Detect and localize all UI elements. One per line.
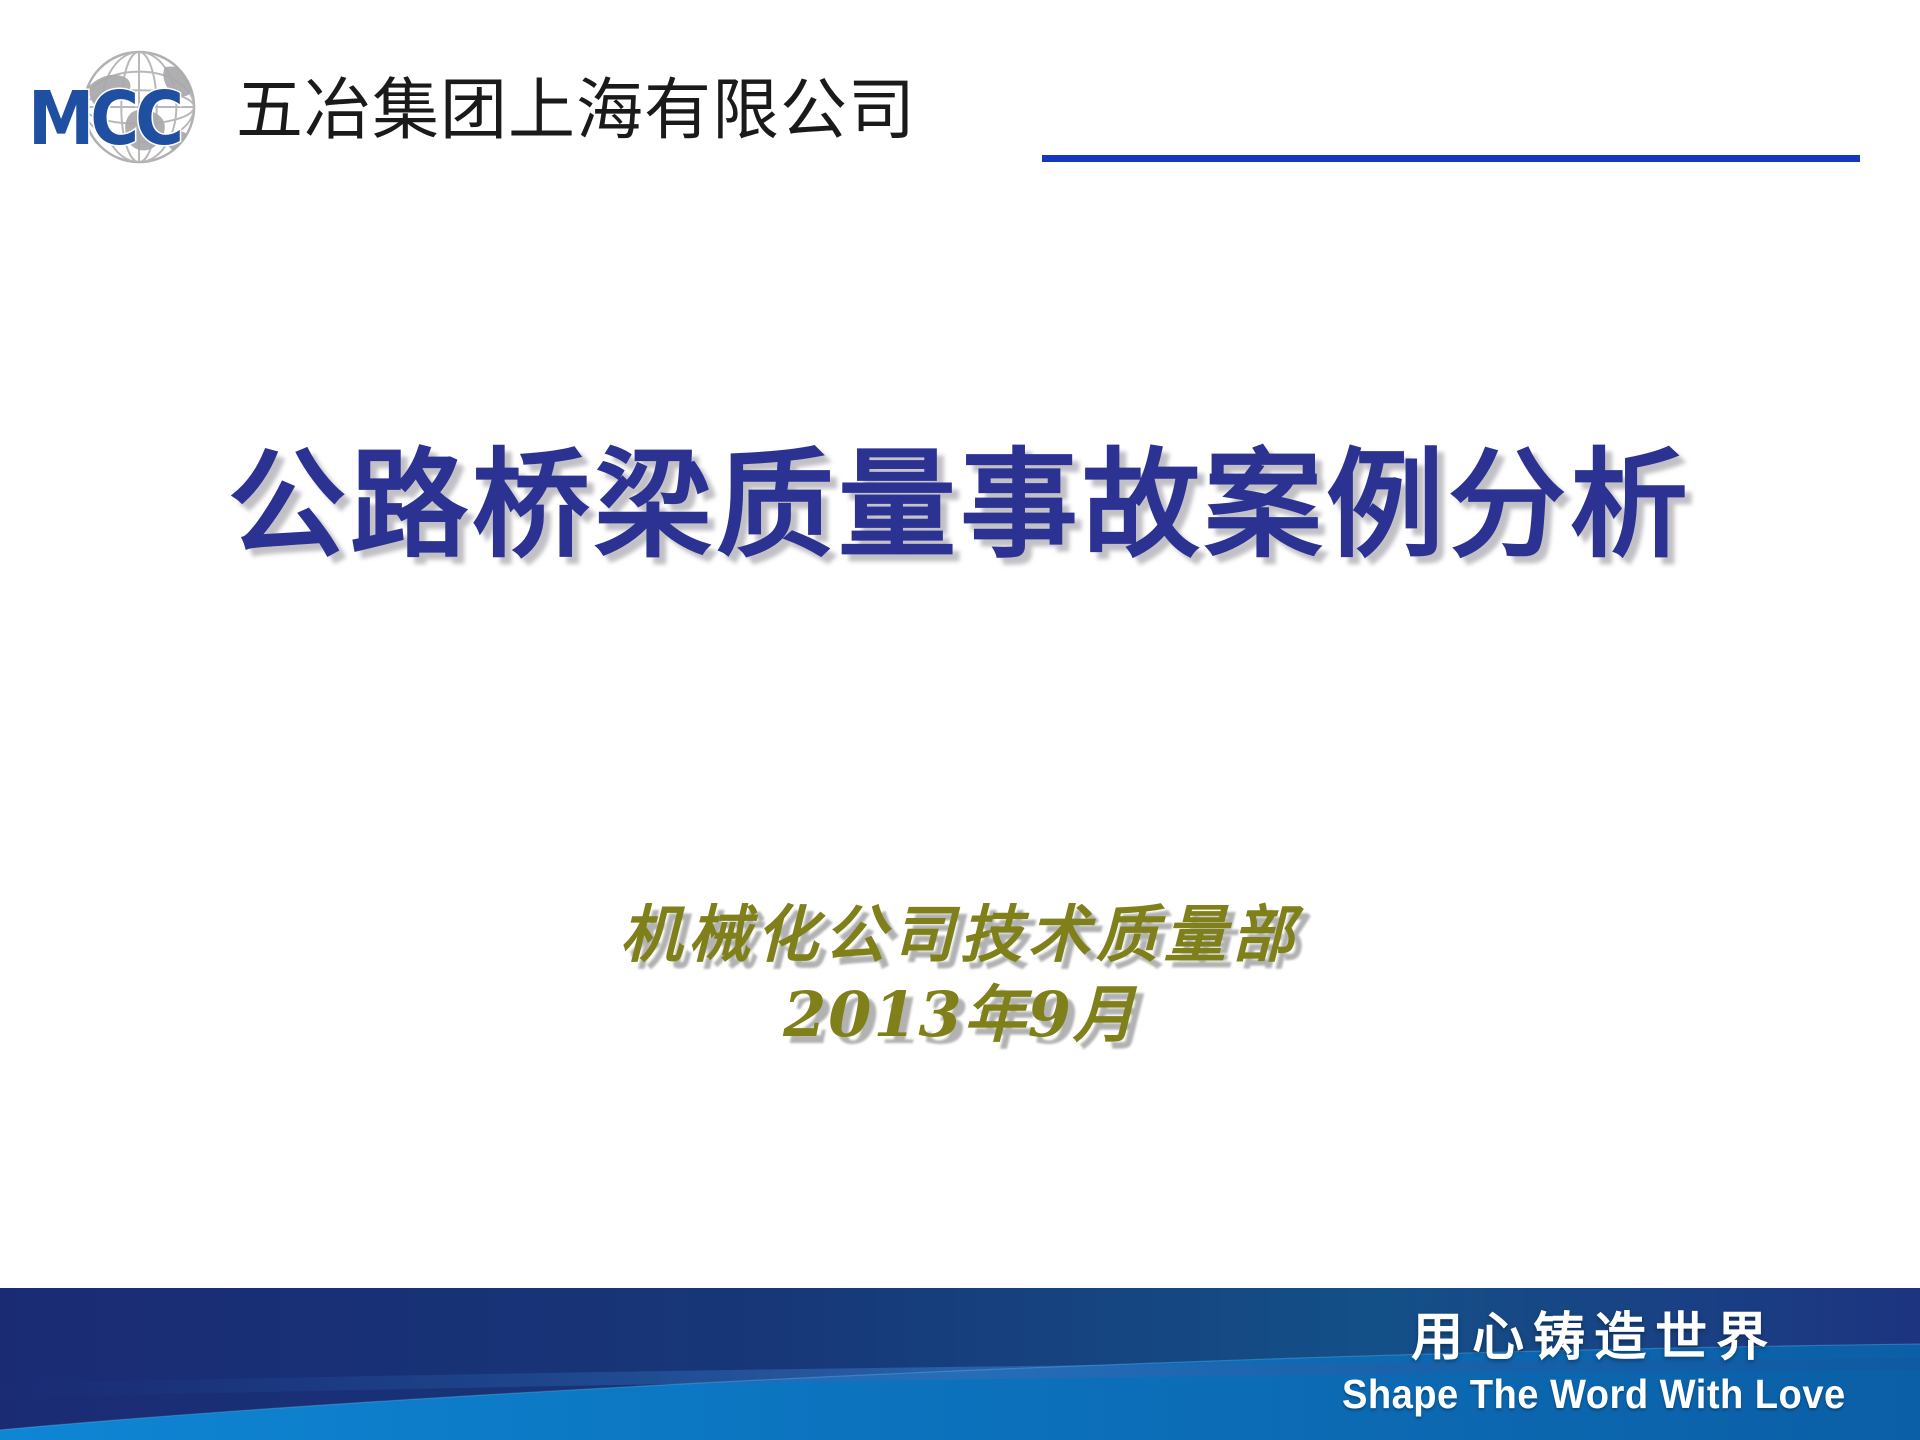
department-name: 机械化公司技术质量部 — [0, 895, 1920, 975]
company-name: 五冶集团上海有限公司 — [236, 70, 916, 150]
slogan-english: Shape The Word With Love — [1342, 1370, 1846, 1418]
mcc-wordmark-text: MCC — [28, 86, 228, 152]
mcc-logo: MCC — [28, 48, 228, 166]
slogan-block: 用心铸造世界 Shape The Word With Love — [1323, 1306, 1865, 1418]
header-divider-rule — [1042, 155, 1860, 162]
subtitle-block: 机械化公司技术质量部 2013年9月 — [0, 895, 1920, 1055]
presentation-date: 2013年9月 — [0, 975, 1920, 1055]
page-title: 公路桥梁质量事故案例分析 — [0, 430, 1920, 580]
slide-header: MCC 五冶集团上海有限公司 — [0, 0, 1920, 190]
footer-banner: 用心铸造世界 Shape The Word With Love — [0, 1288, 1920, 1440]
title-block: 公路桥梁质量事故案例分析 — [0, 430, 1920, 580]
slogan-chinese: 用心铸造世界 — [1323, 1306, 1865, 1370]
presentation-slide: MCC 五冶集团上海有限公司 公路桥梁质量事故案例分析 机械化公司技术质量部 2… — [0, 0, 1920, 1440]
